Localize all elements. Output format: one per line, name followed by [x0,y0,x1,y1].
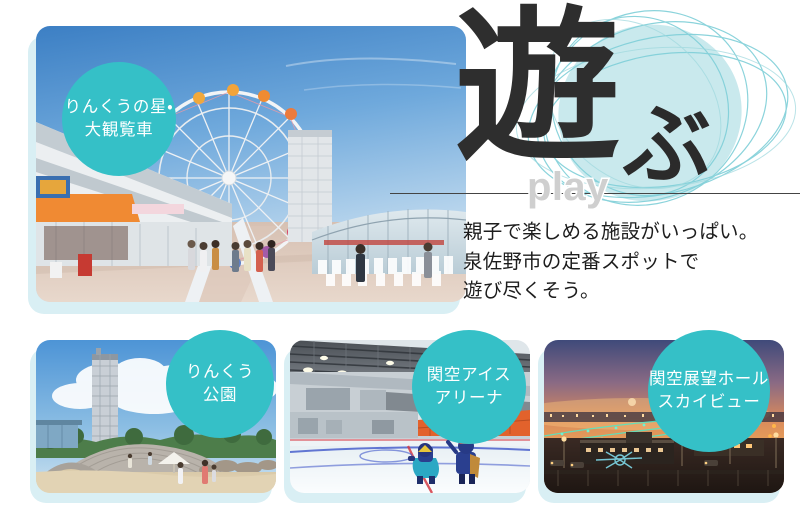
badge-line-1: 関空アイス [427,364,511,387]
lede-copy: 親子で楽しめる施設がいっぱい。 泉佐野市の定番スポットで 遊び尽くそう。 [463,218,798,307]
headline-kana: ぶ [623,103,711,191]
promo-banner: りんくうの星・ 大観覧車 遊 ぶ play 親子で楽しめる施設がいっぱい。 泉佐… [0,0,800,515]
badge-rinku-no-hoshi[interactable]: りんくうの星・ 大観覧車 [62,62,176,176]
badge-line-2: 大観覧車 [85,119,154,142]
badge-line-2: アリーナ [435,387,504,410]
badge-line-1: 関空展望ホール [649,368,769,391]
badge-rinku-park[interactable]: りんくう 公園 [166,330,274,438]
headline-romaji: play [527,165,609,210]
lede-line-1: 親子で楽しめる施設がいっぱい。 [463,218,798,248]
headline-block: 遊 ぶ play [455,15,800,210]
lede-line-3: 遊び尽くそう。 [463,277,798,307]
badge-kanku-skyview[interactable]: 関空展望ホール スカイビュー [648,330,770,452]
badge-line-2: 公園 [203,384,237,407]
lede-line-2: 泉佐野市の定番スポットで [463,248,798,278]
badge-line-1: りんくう [186,361,254,384]
badge-kanku-ice-arena[interactable]: 関空アイス アリーナ [412,330,526,444]
badge-line-2: スカイビュー [658,391,761,414]
badge-line-1: りんくうの星・ [65,96,174,119]
headline-kanji: 遊 [455,7,620,172]
